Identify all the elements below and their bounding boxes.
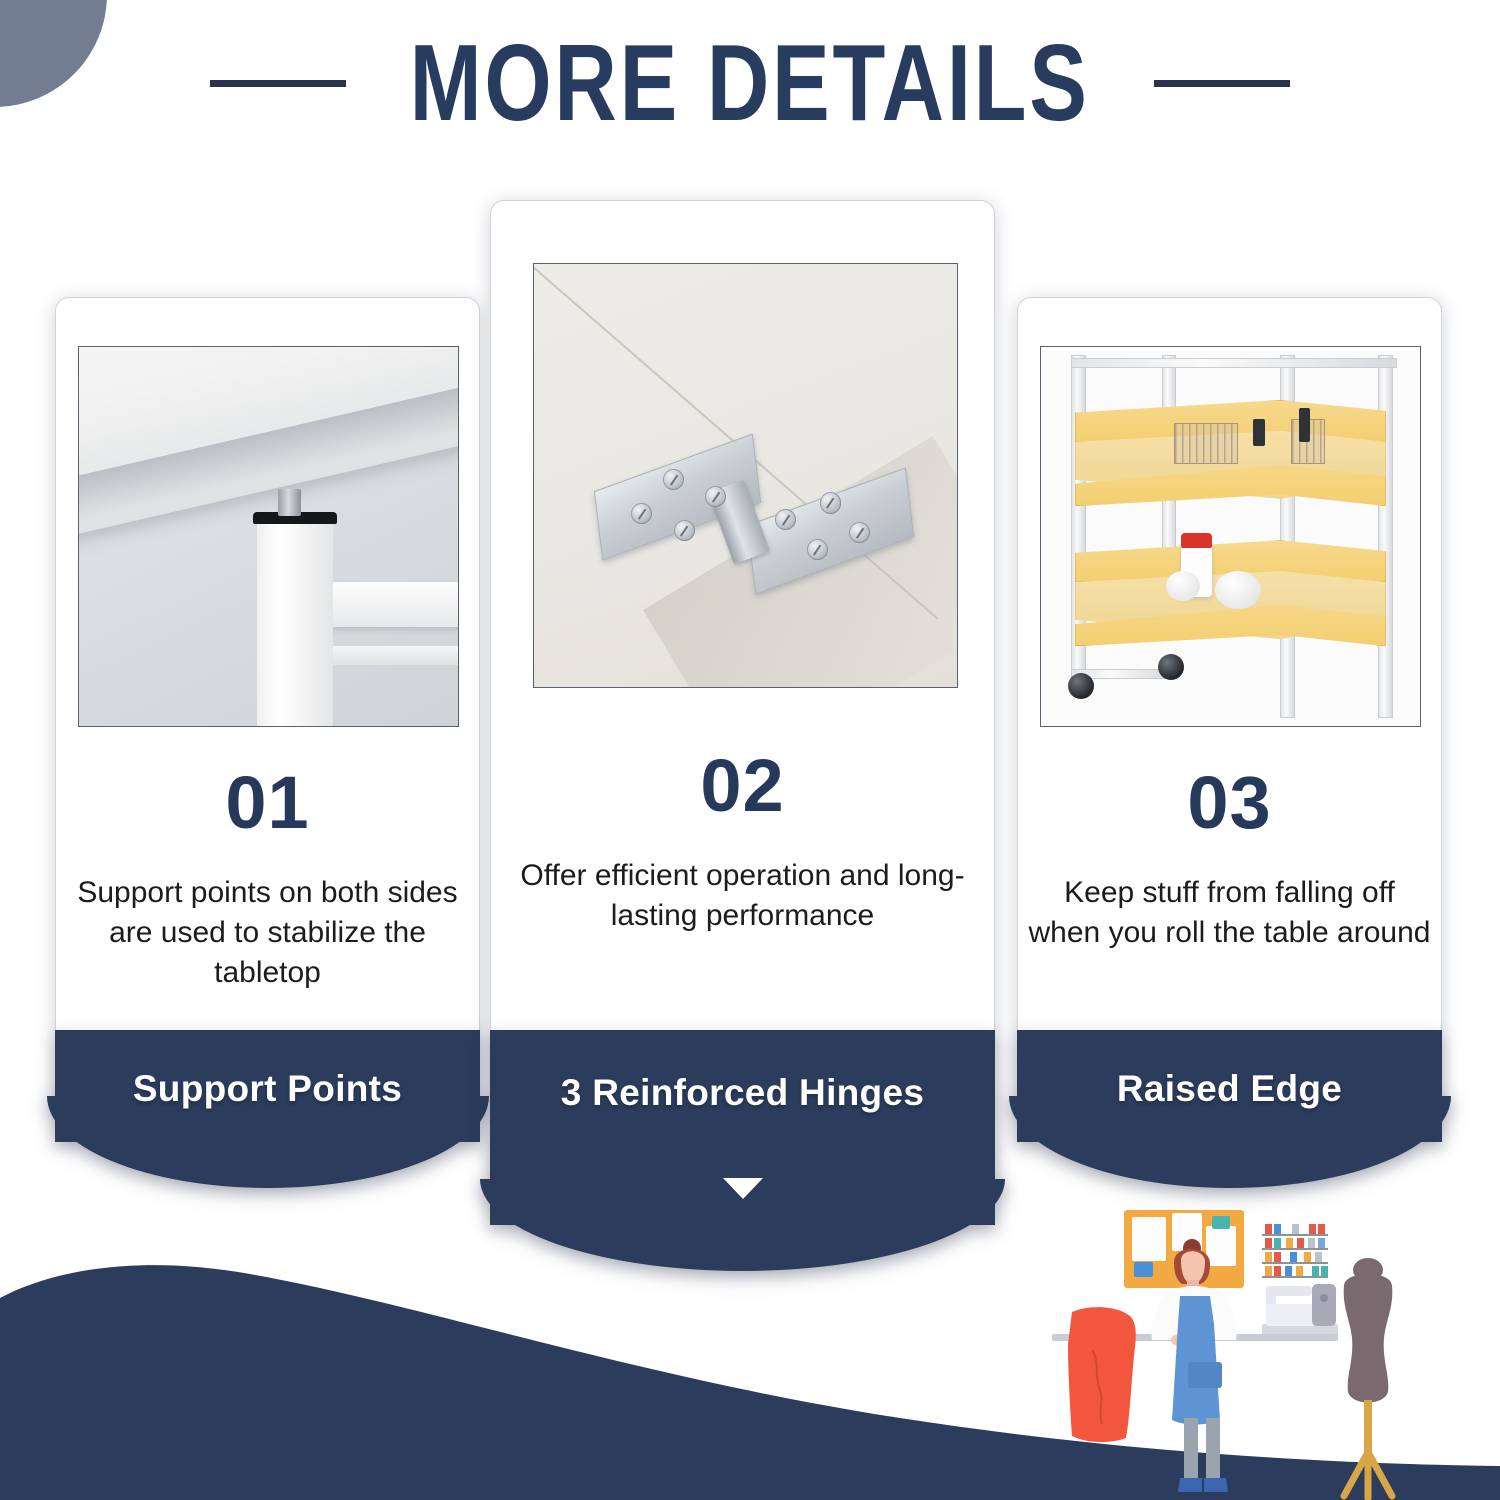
detail-card-2-body: 02 Offer efficient operation and long-la… (490, 200, 995, 1030)
detail-card-3-description: Keep stuff from falling off when you rol… (1018, 873, 1441, 953)
table-leg-support-point-photo (78, 346, 459, 727)
detail-card-3-body: 03 Keep stuff from falling off when you … (1017, 297, 1442, 1030)
detail-card-3-number: 03 (1018, 766, 1441, 840)
detail-card-2-banner-label: 3 Reinforced Hinges (490, 1072, 995, 1114)
metal-hinge-photo (533, 263, 958, 688)
detail-card-3-banner: Raised Edge (1017, 1030, 1442, 1142)
sewing-room-scene-illustration (1034, 1200, 1482, 1500)
detail-card-2-description: Offer efficient operation and long-lasti… (491, 856, 994, 936)
detail-card-2-number: 02 (491, 749, 994, 823)
detail-cards-row: 01 Support points on both sides are used… (0, 0, 1500, 1260)
detail-card-1-banner: Support Points (55, 1030, 480, 1142)
chevron-down-icon[interactable] (723, 1178, 763, 1199)
detail-card-3-banner-label: Raised Edge (1017, 1068, 1442, 1110)
infographic-page: MORE DETAILS 01 S (0, 0, 1500, 1500)
detail-card-1-banner-label: Support Points (55, 1068, 480, 1110)
rolling-cart-raised-edge-photo (1040, 346, 1421, 727)
detail-card-1-description: Support points on both sides are used to… (56, 873, 479, 993)
detail-card-2-banner: 3 Reinforced Hinges (490, 1030, 995, 1225)
detail-card-1-number: 01 (56, 766, 479, 840)
detail-card-1-body: 01 Support points on both sides are used… (55, 297, 480, 1030)
